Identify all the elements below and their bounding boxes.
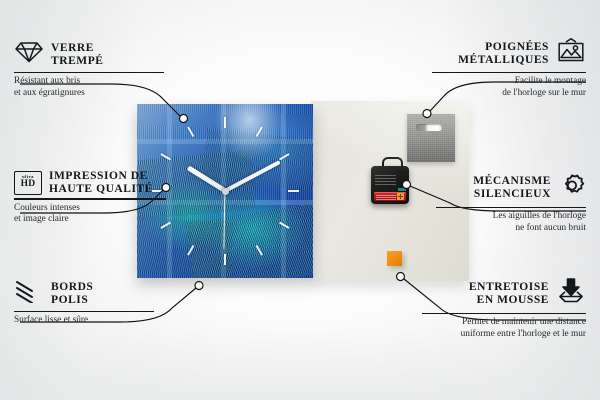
callout-subtitle: Les aiguilles de l'horloge ne font aucun…	[436, 211, 586, 233]
callout-title-line2: SILENCIEUX	[473, 188, 551, 201]
diamond-icon	[14, 40, 44, 69]
callout-title-line1: VERRE	[51, 42, 104, 55]
callout-subtitle: Facilite le montage de l'horloge sur le …	[432, 76, 586, 98]
gear-icon	[558, 171, 586, 204]
callout-title-line1: BORDS	[51, 281, 93, 294]
callout-poignees-metalliques[interactable]: POIGNÉES MÉTALLIQUES Facilite le montage…	[432, 38, 586, 99]
callout-divider	[14, 311, 154, 312]
callout-title-line2: MÉTALLIQUES	[458, 54, 549, 67]
callout-bords-polis[interactable]: BORDS POLIS Surface lisse et sûre	[14, 279, 154, 327]
callout-entretoise-en-mousse[interactable]: ENTRETOISE EN MOUSSE Permet de maintenir…	[422, 277, 586, 340]
callout-title-line1: POIGNÉES	[458, 41, 549, 54]
callout-title-line2: EN MOUSSE	[469, 294, 549, 307]
callout-divider	[432, 72, 586, 73]
callout-subtitle: Surface lisse et sûre	[14, 315, 154, 326]
callout-divider	[14, 198, 166, 199]
infographic-canvas: VERRE TREMPÉ Résistant aux bris et aux é…	[0, 0, 600, 400]
callout-impression-haute-qualite[interactable]: ultra HD IMPRESSION DE HAUTE QUALITÉ Cou…	[14, 170, 166, 225]
callout-subtitle: Permet de maintenir une distance uniform…	[422, 317, 586, 339]
hd-badge-main-text: HD	[21, 180, 36, 190]
callout-divider	[422, 313, 586, 314]
callout-mecanisme-silencieux[interactable]: MÉCANISME SILENCIEUX Les aiguilles de l'…	[436, 171, 586, 234]
ultra-hd-badge-icon: ultra HD	[14, 171, 42, 195]
picture-hanger-icon	[556, 38, 586, 69]
callout-subtitle: Résistant aux bris et aux égratignures	[14, 76, 164, 98]
callout-title-line2: POLIS	[51, 294, 93, 307]
callout-title-line1: ENTRETOISE	[469, 281, 549, 294]
callout-divider	[436, 207, 586, 208]
callout-title-line2: TREMPÉ	[51, 55, 104, 68]
callout-subtitle: Couleurs intenses et image claire	[14, 203, 166, 225]
polished-edges-icon	[14, 279, 44, 308]
callout-title-line2: HAUTE QUALITÉ	[49, 183, 153, 196]
foam-spacer-arrow-icon	[556, 277, 586, 310]
callout-title-line1: IMPRESSION DE	[49, 170, 153, 183]
callout-title-line1: MÉCANISME	[473, 175, 551, 188]
callout-divider	[14, 72, 164, 73]
callout-verre-trempe[interactable]: VERRE TREMPÉ Résistant aux bris et aux é…	[14, 40, 164, 99]
